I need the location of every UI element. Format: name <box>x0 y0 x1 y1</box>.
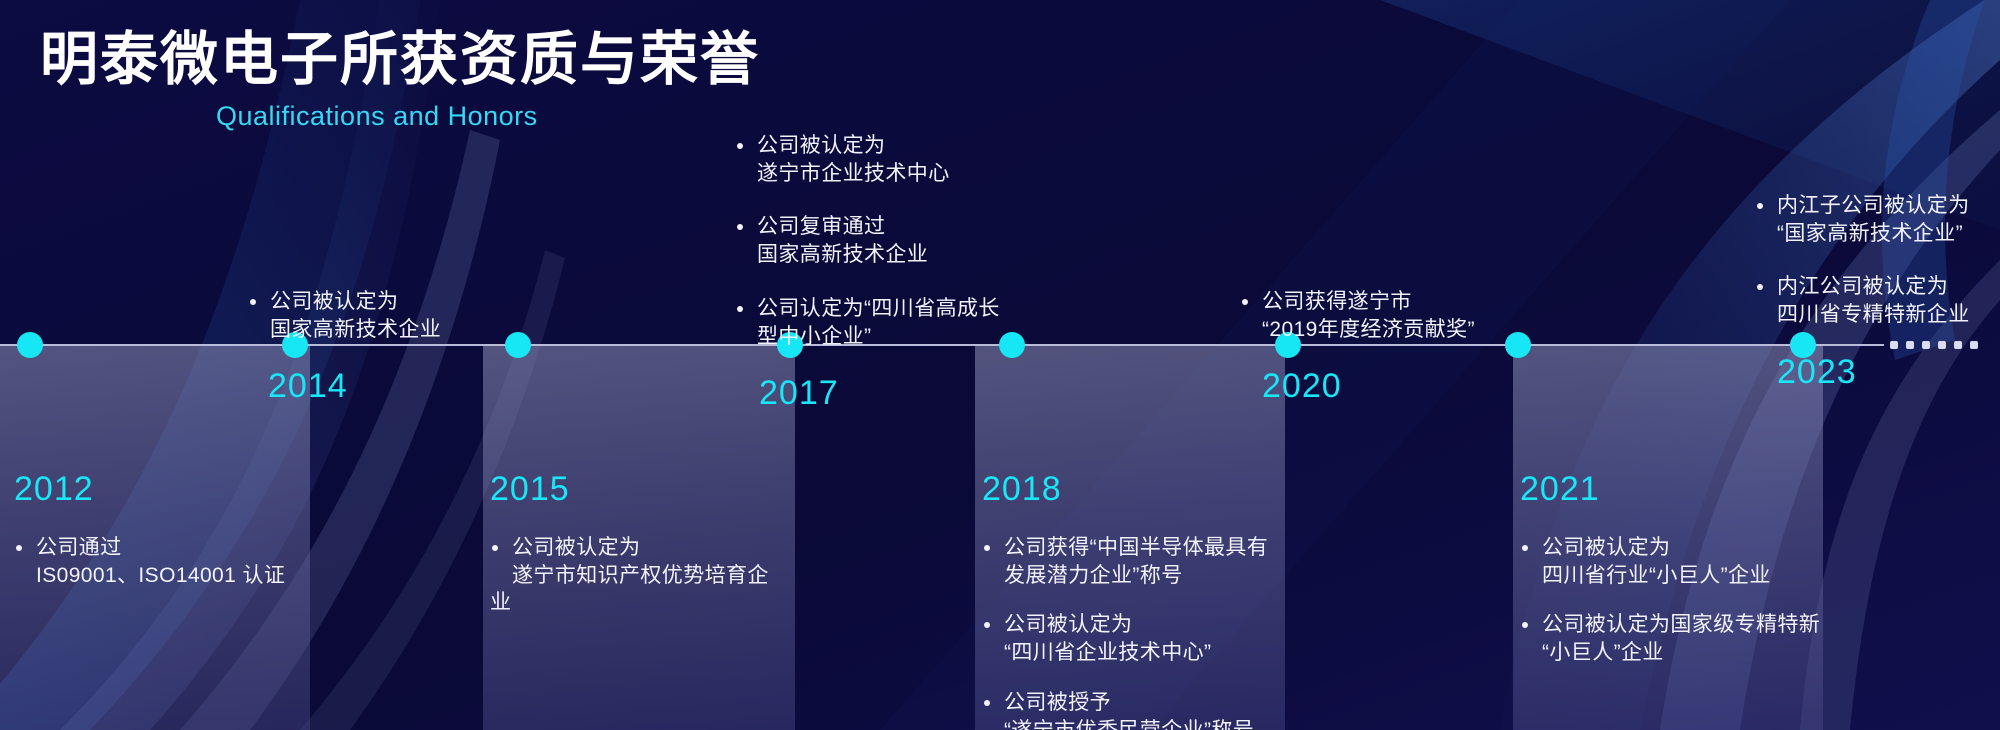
bullet-line: 内江公司被认定为 <box>1777 273 1970 301</box>
year-label-2017: 2017 <box>759 376 1000 410</box>
slide-canvas: 明泰微电子所获资质与荣誉 Qualifications and Honors 公… <box>0 0 2000 730</box>
list-item: 公司被授予 “遂宁市优秀民营企业”称号 <box>982 689 1268 730</box>
bullet-list-2018: 公司获得“中国半导体最具有 发展潜力企业”称号 公司被认定为 “四川省企业技术中… <box>982 534 1268 730</box>
list-item: 内江子公司被认定为 “国家高新技术企业” <box>1755 192 1970 247</box>
bullet-list-2017: 公司被认定为 遂宁市企业技术中心 公司复审通过 国家高新技术企业 公司认定为“四… <box>735 132 1000 350</box>
list-item: 公司复审通过 国家高新技术企业 <box>735 213 1000 268</box>
timeline-node-2018[interactable] <box>999 332 1025 358</box>
bullet-list-2023: 内江子公司被认定为 “国家高新技术企业” 内江公司被认定为 四川省专精特新企业 <box>1755 192 1970 329</box>
bullet-line: “小巨人”企业 <box>1542 639 1820 667</box>
bullet-line: 四川省行业“小巨人”企业 <box>1542 562 1820 590</box>
bullet-line: 业 <box>490 589 769 617</box>
bullet-line: IS09001、ISO14001 认证 <box>36 562 285 590</box>
bullet-line: 公司被授予 <box>1004 689 1268 717</box>
timeline-node-2012[interactable] <box>17 332 43 358</box>
timeline-entry-2020[interactable]: 公司获得遂宁市 “2019年度经济贡献奖” 2020 <box>1240 288 1475 403</box>
year-label-2018: 2018 <box>982 472 1268 506</box>
bullet-line: 内江子公司被认定为 <box>1777 192 1970 220</box>
list-item: 公司被认定为 四川省行业“小巨人”企业 <box>1520 534 1820 589</box>
bullet-list-2015: 公司被认定为 遂宁市知识产权优势培育企 业 <box>490 534 769 617</box>
year-label-2023: 2023 <box>1777 355 1970 389</box>
timeline-entry-2023[interactable]: 内江子公司被认定为 “国家高新技术企业” 内江公司被认定为 四川省专精特新企业 … <box>1755 192 1970 389</box>
list-item: 公司通过 IS09001、ISO14001 认证 <box>14 534 285 589</box>
bullet-line: 遂宁市知识产权优势培育企 <box>512 562 769 590</box>
year-label-2012: 2012 <box>14 472 285 506</box>
timeline-entry-2017[interactable]: 公司被认定为 遂宁市企业技术中心 公司复审通过 国家高新技术企业 公司认定为“四… <box>735 132 1000 410</box>
page-subtitle: Qualifications and Honors <box>216 101 760 132</box>
page-title: 明泰微电子所获资质与荣誉 <box>40 30 760 91</box>
bullet-line: 公司通过 <box>36 534 285 562</box>
bullet-line: 国家高新技术企业 <box>270 316 441 344</box>
timeline-entry-2014[interactable]: 公司被认定为 国家高新技术企业 2014 <box>248 288 441 403</box>
timeline-node-2015[interactable] <box>505 332 531 358</box>
header: 明泰微电子所获资质与荣誉 Qualifications and Honors <box>40 30 760 132</box>
timeline-entry-2015[interactable]: 2015 公司被认定为 遂宁市知识产权优势培育企 业 <box>490 472 769 617</box>
year-label-2015: 2015 <box>490 472 769 506</box>
bullet-line: 四川省专精特新企业 <box>1777 301 1970 329</box>
bullet-line: “四川省企业技术中心” <box>1004 639 1268 667</box>
bullet-line: 公司被认定为 <box>757 132 1000 160</box>
list-item: 公司获得遂宁市 “2019年度经济贡献奖” <box>1240 288 1475 343</box>
bullet-line: 公司获得遂宁市 <box>1262 288 1475 316</box>
bullet-line: “遂宁市优秀民营企业”称号 <box>1004 717 1268 730</box>
bullet-line: 遂宁市企业技术中心 <box>757 160 1000 188</box>
year-label-2014: 2014 <box>268 369 441 403</box>
bullet-line: 公司复审通过 <box>757 213 1000 241</box>
bullet-line: 公司被认定为 <box>270 288 441 316</box>
list-item: 公司被认定为 国家高新技术企业 <box>248 288 441 343</box>
list-item: 公司被认定为 遂宁市企业技术中心 <box>735 132 1000 187</box>
list-item: 公司获得“中国半导体最具有 发展潜力企业”称号 <box>982 534 1268 589</box>
timeline-entry-2021[interactable]: 2021 公司被认定为 四川省行业“小巨人”企业 公司被认定为国家级专精特新 “… <box>1520 472 1820 667</box>
bullet-line: 公司被认定为国家级专精特新 <box>1542 611 1820 639</box>
bullet-list-2020: 公司获得遂宁市 “2019年度经济贡献奖” <box>1240 288 1475 343</box>
timeline-entry-2012[interactable]: 2012 公司通过 IS09001、ISO14001 认证 <box>14 472 285 589</box>
bullet-list-2012: 公司通过 IS09001、ISO14001 认证 <box>14 534 285 589</box>
list-item: 公司认定为“四川省高成长 型中小企业” <box>735 295 1000 350</box>
bullet-line: 公司认定为“四川省高成长 <box>757 295 1000 323</box>
list-item: 公司被认定为国家级专精特新 “小巨人”企业 <box>1520 611 1820 666</box>
bullet-line: “国家高新技术企业” <box>1777 220 1970 248</box>
bullet-line: 国家高新技术企业 <box>757 241 1000 269</box>
bullet-line: 公司被认定为 <box>1004 611 1268 639</box>
bullet-line: “2019年度经济贡献奖” <box>1262 316 1475 344</box>
year-label-2020: 2020 <box>1262 369 1475 403</box>
bullet-line: 公司被认定为 <box>1542 534 1820 562</box>
list-item: 公司被认定为 “四川省企业技术中心” <box>982 611 1268 666</box>
bullet-list-2021: 公司被认定为 四川省行业“小巨人”企业 公司被认定为国家级专精特新 “小巨人”企… <box>1520 534 1820 667</box>
bullet-line: 型中小企业” <box>757 323 1000 351</box>
bullet-line: 公司获得“中国半导体最具有 <box>1004 534 1268 562</box>
bullet-line: 公司被认定为 <box>512 534 769 562</box>
year-label-2021: 2021 <box>1520 472 1820 506</box>
timeline-axis-dash <box>1970 341 1978 349</box>
timeline-entry-2018[interactable]: 2018 公司获得“中国半导体最具有 发展潜力企业”称号 公司被认定为 “四川省… <box>982 472 1268 730</box>
timeline-node-2021[interactable] <box>1505 332 1531 358</box>
list-item: 公司被认定为 遂宁市知识产权优势培育企 业 <box>490 534 769 617</box>
list-item: 内江公司被认定为 四川省专精特新企业 <box>1755 273 1970 328</box>
bullet-list-2014: 公司被认定为 国家高新技术企业 <box>248 288 441 343</box>
bullet-line: 发展潜力企业”称号 <box>1004 562 1268 590</box>
